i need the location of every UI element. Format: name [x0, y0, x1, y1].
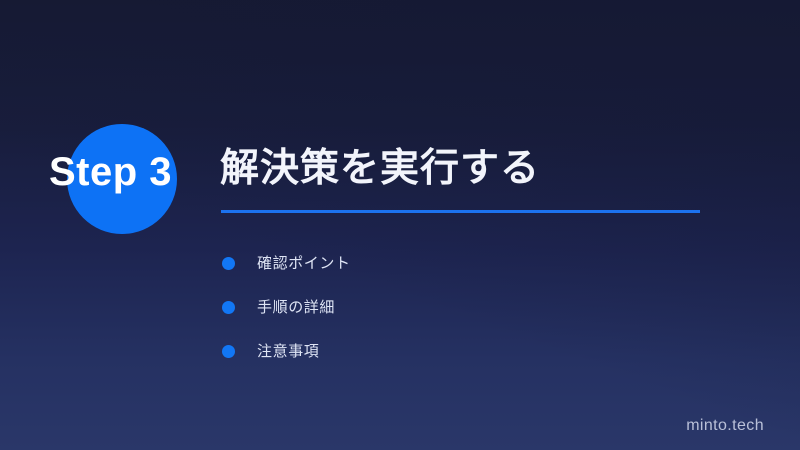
- bullet-dot-icon: [222, 301, 235, 314]
- bullet-label: 注意事項: [257, 344, 319, 359]
- list-item: 注意事項: [222, 329, 351, 373]
- bullet-label: 手順の詳細: [257, 300, 335, 315]
- bullet-label: 確認ポイント: [257, 256, 351, 271]
- title-divider: [221, 210, 700, 213]
- list-item: 確認ポイント: [222, 241, 351, 285]
- footer-brand: minto.tech: [686, 418, 764, 434]
- bullet-list: 確認ポイント 手順の詳細 注意事項: [222, 241, 351, 373]
- bullet-dot-icon: [222, 345, 235, 358]
- page-title: 解決策を実行する: [220, 146, 540, 192]
- slide-canvas: Step 3 解決策を実行する 確認ポイント 手順の詳細 注意事項 minto.…: [0, 0, 800, 450]
- list-item: 手順の詳細: [222, 285, 351, 329]
- bullet-dot-icon: [222, 257, 235, 270]
